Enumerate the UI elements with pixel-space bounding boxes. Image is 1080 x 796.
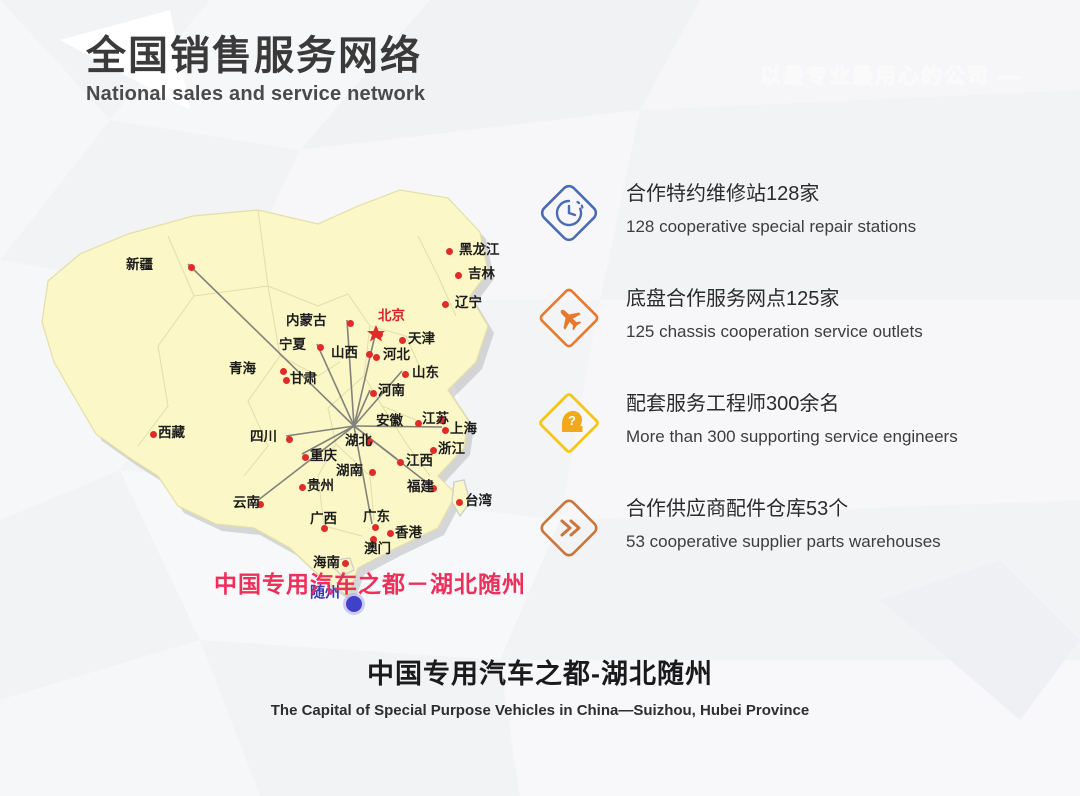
- map-province-label: 江西: [406, 454, 433, 468]
- map-province-dot: [415, 420, 422, 427]
- map-province-label: 江苏: [422, 412, 449, 426]
- map-province-dot: [402, 371, 409, 378]
- map-province-dot: [321, 525, 328, 532]
- feature-title-cn: 底盘合作服务网点125家: [626, 287, 923, 312]
- map-province-label: 西藏: [158, 426, 185, 440]
- feature-title-en: 53 cooperative supplier parts warehouses: [626, 531, 941, 552]
- feature-title-en: More than 300 supporting service enginee…: [626, 426, 958, 447]
- map-province-label: 广东: [363, 510, 390, 524]
- svg-text:?: ?: [568, 413, 576, 428]
- map-province-dot: [150, 431, 157, 438]
- map-province-dot: [399, 337, 406, 344]
- map-province-label: 吉林: [468, 267, 495, 281]
- map-province-dot: [366, 351, 373, 358]
- map-province-label: 浙江: [438, 442, 465, 456]
- map-province-label: 香港: [395, 526, 422, 540]
- map-province-label: 四川: [250, 430, 277, 444]
- map-province-label: 重庆: [310, 449, 337, 463]
- clock-icon: [536, 180, 602, 246]
- slide-canvas: 全国销售服务网络 National sales and service netw…: [0, 0, 1080, 796]
- map-province-label: 上海: [450, 422, 477, 436]
- map-province-label: 内蒙古: [286, 314, 327, 328]
- map-province-dot: [456, 499, 463, 506]
- map-province-dot: [442, 427, 449, 434]
- map-province-dot: [446, 248, 453, 255]
- map-province-dot: [302, 454, 309, 461]
- page-header: 全国销售服务网络 National sales and service netw…: [86, 34, 425, 106]
- china-map: 新疆黑龙江吉林辽宁内蒙古北京天津宁夏山西河北青海甘肃山东河南安徽江苏上海西藏四川…: [18, 176, 548, 616]
- feature-title-cn: 合作供应商配件仓库53个: [626, 497, 941, 522]
- feature-text: 合作供应商配件仓库53个 53 cooperative supplier par…: [626, 497, 941, 552]
- map-province-dot: [455, 272, 462, 279]
- map-province-label: 山东: [412, 366, 439, 380]
- map-province-label: 湖北: [345, 434, 372, 448]
- feature-item-chassis-outlets[interactable]: 底盘合作服务网点125家 125 chassis cooperation ser…: [536, 277, 1056, 382]
- map-province-dot: [369, 469, 376, 476]
- map-province-dot: [373, 354, 380, 361]
- feature-text: 配套服务工程师300余名 More than 300 supporting se…: [626, 392, 958, 447]
- footer-title-cn: 中国专用汽车之都-湖北随州: [0, 652, 1080, 691]
- map-province-dot: [397, 459, 404, 466]
- footer-title-en: The Capital of Special Purpose Vehicles …: [0, 702, 1080, 719]
- feature-title-en: 128 cooperative special repair stations: [626, 216, 916, 237]
- map-province-dot: [188, 264, 195, 271]
- watermark-text: 以最专业最用心的公司 —: [760, 60, 1021, 90]
- map-province-label: 安徽: [376, 414, 403, 428]
- map-province-label: 新疆: [126, 258, 153, 272]
- map-province-label: 北京: [378, 309, 405, 323]
- map-province-label: 宁夏: [279, 338, 306, 352]
- map-province-label: 黑龙江: [459, 243, 500, 257]
- map-province-label: 澳门: [364, 542, 391, 556]
- feature-item-parts-warehouses[interactable]: 合作供应商配件仓库53个 53 cooperative supplier par…: [536, 487, 1056, 592]
- map-province-label: 湖南: [336, 464, 363, 478]
- map-province-dot: [376, 331, 383, 338]
- feature-title-cn: 配套服务工程师300余名: [626, 392, 958, 417]
- page-footer: 中国专用汽车之都-湖北随州 The Capital of Special Pur…: [0, 652, 1080, 719]
- head-question-icon: ?: [536, 390, 602, 456]
- map-province-label: 台湾: [465, 494, 492, 508]
- map-province-dot: [372, 524, 379, 531]
- map-province-label: 辽宁: [455, 296, 482, 310]
- map-province-dot: [283, 377, 290, 384]
- map-province-label: 贵州: [307, 479, 334, 493]
- feature-text: 底盘合作服务网点125家 125 chassis cooperation ser…: [626, 287, 923, 342]
- double-chevron-icon: [536, 495, 602, 561]
- map-province-dot: [347, 320, 354, 327]
- feature-text: 合作特约维修站128家 128 cooperative special repa…: [626, 182, 916, 237]
- map-province-label: 广西: [310, 512, 337, 526]
- map-province-dot: [286, 436, 293, 443]
- map-province-label: 云南: [233, 496, 260, 510]
- feature-item-service-engineers[interactable]: ? 配套服务工程师300余名 More than 300 supporting …: [536, 382, 1056, 487]
- map-province-dot: [317, 344, 324, 351]
- feature-item-repair-stations[interactable]: 合作特约维修站128家 128 cooperative special repa…: [536, 172, 1056, 277]
- map-province-dot: [280, 368, 287, 375]
- map-center-caption: 中国专用汽车之都－湖北随州: [214, 565, 526, 599]
- map-province-dot: [299, 484, 306, 491]
- map-province-label: 河南: [378, 384, 405, 398]
- map-province-dot: [387, 530, 394, 537]
- feature-title-en: 125 chassis cooperation service outlets: [626, 321, 923, 342]
- feature-list: 合作特约维修站128家 128 cooperative special repa…: [536, 172, 1056, 592]
- map-province-dot: [370, 390, 377, 397]
- airplane-icon: [536, 285, 602, 351]
- page-title-en: National sales and service network: [86, 83, 425, 106]
- map-province-dot: [442, 301, 449, 308]
- map-province-label: 河北: [383, 348, 410, 362]
- feature-title-cn: 合作特约维修站128家: [626, 182, 916, 207]
- map-province-label: 山西: [331, 346, 358, 360]
- map-province-label: 天津: [408, 332, 435, 346]
- map-province-label: 福建: [407, 480, 434, 494]
- map-province-label: 甘肃: [290, 372, 317, 386]
- page-title-cn: 全国销售服务网络: [86, 34, 425, 79]
- map-province-label: 青海: [229, 362, 256, 376]
